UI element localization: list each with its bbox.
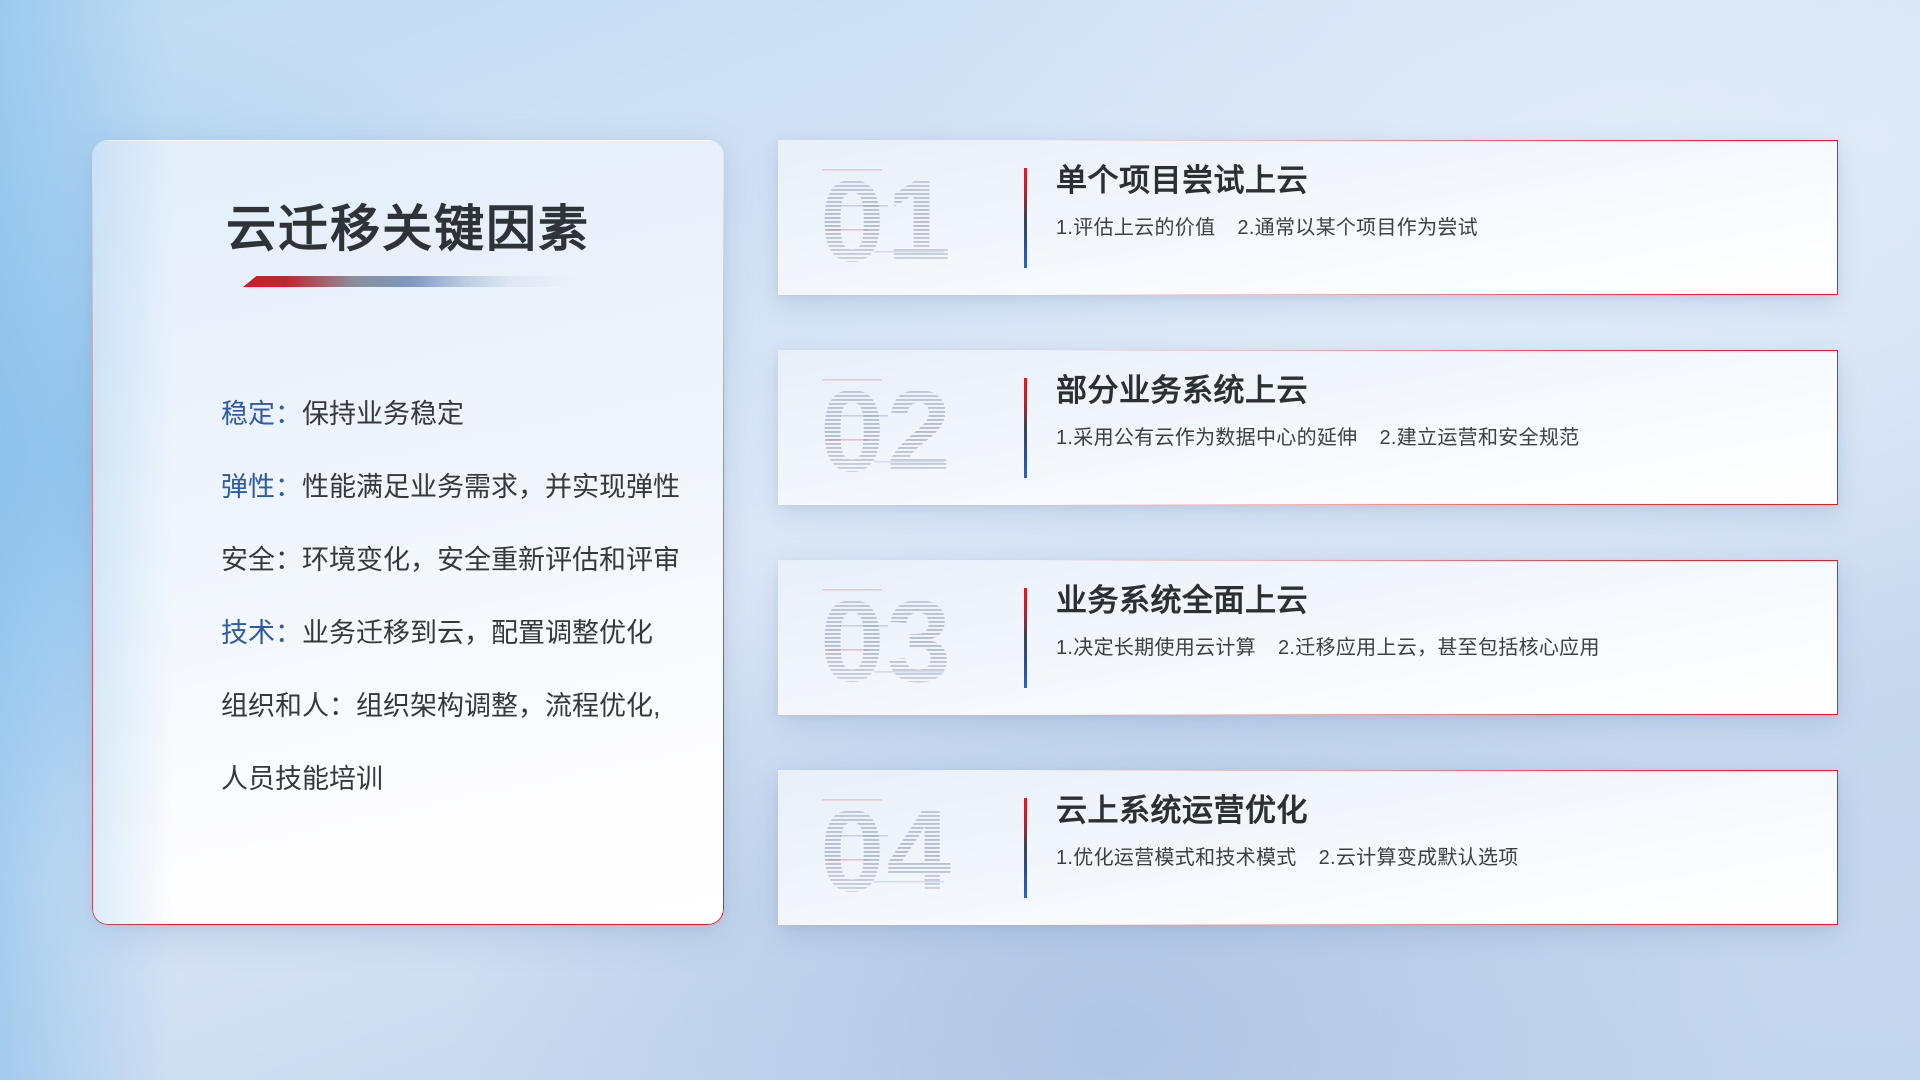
stage-accent-bar [1024,588,1027,688]
factor-text: 保持业务稳定 [302,399,464,429]
stage-number: 03 [814,577,1024,699]
factor-text: 性能满足业务需求，并实现弹性 [302,472,680,502]
stage-card-title: 部分业务系统上云 [1056,372,1798,411]
stage-card-description-item: 2.建立运营和安全规范 [1379,427,1579,449]
slide-canvas: 云迁移关键因素 稳定：保持业务稳定弹性：性能满足业务需求，并实现弹性安全：环境变… [0,0,1920,1080]
stage-card-description: 1.优化运营模式和技术模式2.云计算变成默认选项 [1056,841,1798,870]
stage-number-glyph: 01 [814,157,1024,279]
factor-label: 稳定： [221,399,302,429]
factor-label: 组织和人： [221,691,356,721]
stage-card-description-item: 1.优化运营模式和技术模式 [1056,847,1297,869]
factors-list: 稳定：保持业务稳定弹性：性能满足业务需求，并实现弹性安全：环境变化，安全重新评估… [221,401,687,793]
stage-number-glyph: 04 [814,787,1024,909]
stage-accent-bar [1024,378,1027,478]
factor-label: 技术： [221,618,302,648]
svg-text:03: 03 [820,577,953,699]
stage-accent-bar [1024,168,1027,268]
title-underline-rule [243,276,577,287]
stage-accent-bar [1024,798,1027,898]
stage-card-body: 业务系统全面上云1.决定长期使用云计算2.迁移应用上云，甚至包括核心应用 [1056,582,1798,660]
factor-text: 环境变化，安全重新评估和评审 [302,545,680,575]
stage-number: 02 [814,367,1024,489]
stage-card-description: 1.评估上云的价值2.通常以某个项目作为尝试 [1056,211,1798,240]
stage-card[interactable]: 03业务系统全面上云1.决定长期使用云计算2.迁移应用上云，甚至包括核心应用 [778,560,1838,715]
factor-label: 安全： [221,545,302,575]
svg-text:01: 01 [820,157,953,279]
stage-card[interactable]: 02部分业务系统上云1.采用公有云作为数据中心的延伸2.建立运营和安全规范 [778,350,1838,505]
stage-number: 04 [814,787,1024,909]
stage-card-description: 1.决定长期使用云计算2.迁移应用上云，甚至包括核心应用 [1056,631,1798,660]
factor-text: 业务迁移到云，配置调整优化 [302,618,653,648]
stage-number-glyph: 02 [814,367,1024,489]
factor-text: 人员技能培训 [221,764,383,794]
stage-number: 01 [814,157,1024,279]
stage-number-glyph: 03 [814,577,1024,699]
stage-card-description-item: 2.通常以某个项目作为尝试 [1237,217,1478,239]
stage-card-title: 云上系统运营优化 [1056,792,1798,831]
factor-item: 技术：业务迁移到云，配置调整优化 [221,620,687,647]
stage-card-body: 云上系统运营优化1.优化运营模式和技术模式2.云计算变成默认选项 [1056,792,1798,870]
stage-card-title: 单个项目尝试上云 [1056,162,1798,201]
factor-item: 稳定：保持业务稳定 [221,401,687,428]
stage-card[interactable]: 04云上系统运营优化1.优化运营模式和技术模式2.云计算变成默认选项 [778,770,1838,925]
stage-cards-list: 01单个项目尝试上云1.评估上云的价值2.通常以某个项目作为尝试02部分业务系统… [778,140,1838,980]
stage-card-description-item: 2.迁移应用上云，甚至包括核心应用 [1278,637,1600,659]
stage-card-description-item: 1.决定长期使用云计算 [1056,637,1256,659]
factor-label: 弹性： [221,472,302,502]
stage-card[interactable]: 01单个项目尝试上云1.评估上云的价值2.通常以某个项目作为尝试 [778,140,1838,295]
stage-card-description-item: 1.采用公有云作为数据中心的延伸 [1056,427,1357,449]
factor-item: 安全：环境变化，安全重新评估和评审 [221,547,687,574]
stage-card-title: 业务系统全面上云 [1056,582,1798,621]
page-title: 云迁移关键因素 [93,189,723,261]
stage-card-description: 1.采用公有云作为数据中心的延伸2.建立运营和安全规范 [1056,421,1798,450]
factor-item: 组织和人：组织架构调整，流程优化, [221,693,687,720]
stage-card-body: 部分业务系统上云1.采用公有云作为数据中心的延伸2.建立运营和安全规范 [1056,372,1798,450]
stage-card-description-item: 1.评估上云的价值 [1056,217,1215,239]
svg-text:02: 02 [820,367,953,489]
factor-item: 弹性：性能满足业务需求，并实现弹性 [221,474,687,501]
factor-text: 组织架构调整，流程优化, [356,691,661,721]
stage-card-body: 单个项目尝试上云1.评估上云的价值2.通常以某个项目作为尝试 [1056,162,1798,240]
factor-item: 人员技能培训 [221,766,687,793]
stage-card-description-item: 2.云计算变成默认选项 [1319,847,1519,869]
svg-text:04: 04 [820,787,953,909]
key-factors-panel: 云迁移关键因素 稳定：保持业务稳定弹性：性能满足业务需求，并实现弹性安全：环境变… [92,140,724,925]
